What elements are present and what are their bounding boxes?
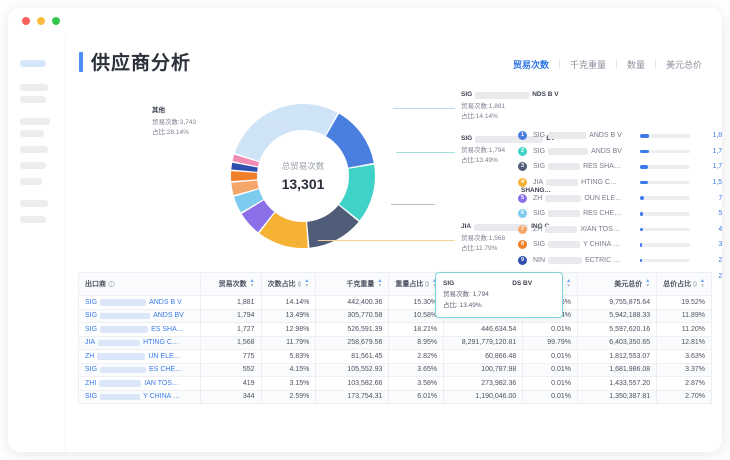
cell-贸易次数: 775: [200, 350, 261, 364]
legend-bar-fill: [640, 196, 644, 200]
table-col-label: 出口商: [85, 279, 106, 289]
redacted-name-pill: [548, 210, 580, 217]
table-col-header-8[interactable]: 美元总价▲▼: [578, 273, 657, 296]
legend-item-1[interactable]: 1SIGANDS B V1,881: [518, 128, 722, 144]
cell-总价占比: 11.20%: [657, 323, 712, 337]
legend-item-value: 775: [696, 195, 722, 202]
page-header: 供应商分析 贸易次数千克重量数量美元总价: [66, 34, 722, 90]
legend-item-4[interactable]: 4JIAHTING C…1,568: [518, 175, 722, 191]
cell-总价占比: 2.70%: [657, 390, 712, 404]
legend-bar-track: [640, 228, 690, 232]
tab-3[interactable]: 数量: [617, 58, 655, 71]
redacted-name-pill: [100, 367, 146, 374]
cell-美元总价: 5,597,620.16: [578, 323, 657, 337]
donut-center-value: 13,301: [253, 176, 353, 192]
table-col-label: 次数占比: [268, 279, 296, 289]
cell-美元总价: 5,942,188.33: [578, 309, 657, 323]
cell-次数占比: 11.79%: [261, 336, 316, 350]
table-col-header-1: 出口商i: [79, 273, 201, 296]
leader-line-seg2: [396, 152, 455, 153]
main-content: 供应商分析 贸易次数千克重量数量美元总价 总贸易次数 13,301: [66, 34, 722, 452]
sort-icon[interactable]: ▲▼: [250, 279, 255, 289]
table-col-header-2[interactable]: 贸易次数▲▼: [200, 273, 261, 296]
cell-重量占比: 3.58%: [389, 377, 444, 391]
sidebar-nav-item-2[interactable]: [20, 84, 48, 91]
close-window-button[interactable]: [22, 17, 30, 25]
cell-次数占比: 2.59%: [261, 390, 316, 404]
cell-总价占比: 19.52%: [657, 296, 712, 310]
sort-icon[interactable]: ▲▼: [645, 279, 650, 289]
table-row[interactable]: ZHUN ELE…7755.83%81,561.452.82%60,866.48…: [79, 350, 712, 364]
cell-重量占比: 2.82%: [389, 350, 444, 364]
legend-rank-badge: 9: [518, 256, 527, 265]
legend-item-3[interactable]: 3SIGRES SHA…1,727: [518, 159, 722, 175]
legend-bar-fill: [640, 212, 643, 216]
legend-rank-badge: 7: [518, 225, 527, 234]
cell-千克重量: 173,754.31: [316, 390, 389, 404]
donut-segment-11[interactable]: [235, 104, 338, 161]
cell-贸易次数: 1,568: [200, 336, 261, 350]
cell-exporter[interactable]: SIGANDS B V: [79, 296, 201, 310]
legend-bar-fill: [640, 181, 648, 185]
callout-segment-1-percent: 占比:14.14%: [461, 112, 559, 123]
donut-chart[interactable]: 总贸易次数 13,301: [214, 92, 392, 260]
cell-数量: 273,982.36: [444, 377, 523, 391]
sidebar-nav-item-10[interactable]: [20, 216, 46, 223]
table-row[interactable]: SIGANDS BV1,79413.49%305,770.5810.58%3,5…: [79, 309, 712, 323]
donut-center-text: 总贸易次数 13,301: [253, 160, 353, 192]
page-title: 供应商分析: [91, 48, 191, 75]
leader-line-seg1: [393, 108, 455, 109]
leader-line-other: [266, 125, 288, 126]
legend-rank-badge: 1: [518, 131, 527, 140]
cell-次数占比: 3.15%: [261, 377, 316, 391]
cell-数量占比: 0.01%: [523, 363, 578, 377]
chart-tooltip-value: 贸易次数: 1,794: [443, 289, 555, 300]
cell-千克重量: 526,591.39: [316, 323, 389, 337]
legend-item-value: 1,881: [696, 132, 722, 139]
legend-bar-fill: [640, 134, 649, 138]
table-head: 出口商i贸易次数▲▼次数占比i▲▼千克重量▲▼重量占比i▲▼数量▲▼数量占比i▲…: [79, 273, 712, 296]
cell-贸易次数: 344: [200, 390, 261, 404]
redacted-name-pill: [545, 226, 577, 233]
callout-other-value: 贸易次数:3,743: [152, 118, 196, 129]
cell-贸易次数: 1,881: [200, 296, 261, 310]
cell-美元总价: 1,433,557.20: [578, 377, 657, 391]
minimize-window-button[interactable]: [37, 17, 45, 25]
info-icon[interactable]: i: [298, 281, 302, 288]
tab-1[interactable]: 贸易次数: [503, 58, 559, 71]
legend-item-value: 249: [696, 257, 722, 264]
metric-tab-group[interactable]: 贸易次数千克重量数量美元总价: [503, 58, 712, 71]
legend-item-9[interactable]: 9NINECTRIC …249: [518, 253, 722, 269]
cell-贸易次数: 1,794: [200, 309, 261, 323]
cell-重量占比: 6.01%: [389, 390, 444, 404]
legend-item-value: 1,727: [696, 163, 722, 170]
table-row[interactable]: JIAHTING C…1,56811.79%258,679.568.95%8,2…: [79, 336, 712, 350]
redacted-name-pill: [545, 195, 581, 202]
redacted-name-pill: [548, 132, 586, 139]
redacted-name-pill: [100, 326, 148, 333]
cell-次数占比: 4.15%: [261, 363, 316, 377]
cell-exporter[interactable]: SIGANDS BV: [79, 309, 201, 323]
callout-segment-1: SIG NDS B V 贸易次数:1,881 占比:14.14%: [461, 90, 559, 123]
cell-总价占比: 11.89%: [657, 309, 712, 323]
sidebar-nav: [8, 34, 66, 452]
legend-rank-badge: 6: [518, 209, 527, 218]
cell-贸易次数: 552: [200, 363, 261, 377]
legend-bar-track: [640, 150, 690, 154]
cell-贸易次数: 1,727: [200, 323, 261, 337]
cell-总价占比: 12.81%: [657, 336, 712, 350]
table-col-label: 重量占比: [395, 279, 423, 289]
cell-总价占比: 2.87%: [657, 377, 712, 391]
legend-bar-fill: [640, 259, 642, 263]
sidebar-nav-item-8[interactable]: [20, 178, 42, 185]
legend-item-label: JIAHTING C…: [533, 179, 638, 186]
table-row[interactable]: SIGANDS B V1,88114.14%442,400.3615.30%4,…: [79, 296, 712, 310]
info-icon[interactable]: i: [108, 281, 115, 288]
legend-item-8[interactable]: 8SIGY CHINA …344: [518, 237, 722, 253]
cell-千克重量: 105,552.93: [316, 363, 389, 377]
window-titlebar: [8, 8, 722, 34]
cell-exporter[interactable]: JIAHTING C…: [79, 336, 201, 350]
legend-item-label: SIGANDS BV: [533, 148, 638, 155]
tab-4[interactable]: 美元总价: [656, 58, 712, 71]
redacted-name-pill: [99, 380, 141, 387]
legend-rank-badge: 3: [518, 162, 527, 171]
leader-line-seg4: [318, 240, 455, 241]
cell-exporter[interactable]: SIGES CHE…: [79, 363, 201, 377]
legend-item-value: 1,794: [696, 148, 722, 155]
cell-数量占比: 99.79%: [523, 336, 578, 350]
cell-重量占比: 8.95%: [389, 336, 444, 350]
maximize-window-button[interactable]: [52, 17, 60, 25]
table-header-row: 出口商i贸易次数▲▼次数占比i▲▼千克重量▲▼重量占比i▲▼数量▲▼数量占比i▲…: [79, 273, 712, 296]
legend-rank-badge: 2: [518, 147, 527, 156]
legend-rank-badge: 4: [518, 178, 527, 187]
table-col-label: 总价占比: [663, 279, 691, 289]
data-table: 出口商i贸易次数▲▼次数占比i▲▼千克重量▲▼重量占比i▲▼数量▲▼数量占比i▲…: [78, 272, 712, 404]
sort-icon[interactable]: ▲▼: [377, 279, 382, 289]
sidebar-nav-item-6[interactable]: [20, 146, 48, 153]
callout-other-prefix: 其他: [152, 106, 165, 117]
table-col-header-9[interactable]: 总价占比i▲▼: [657, 273, 712, 296]
cell-数量: 60,866.48: [444, 350, 523, 364]
table-row[interactable]: SIGES CHE…5524.15%105,552.933.65%100,787…: [79, 363, 712, 377]
chart-tooltip-name: SIG DS BV: [443, 278, 555, 289]
legend-item-label: ZHXIAN TOS…: [533, 226, 638, 233]
chart-tooltip: SIG DS BV 贸易次数: 1,794 占比: 13.49%: [435, 272, 563, 318]
sort-icon[interactable]: ▲▼: [304, 279, 309, 289]
cell-美元总价: 9,755,875.64: [578, 296, 657, 310]
cell-exporter[interactable]: ZHIIAN TOS…: [79, 377, 201, 391]
page-title-group: 供应商分析: [79, 48, 191, 75]
table-col-label: 美元总价: [614, 279, 642, 289]
redacted-name-pill: [475, 92, 529, 99]
cell-总价占比: 3.63%: [657, 350, 712, 364]
info-icon[interactable]: i: [425, 281, 429, 288]
tab-2[interactable]: 千克重量: [560, 58, 616, 71]
cell-贸易次数: 419: [200, 377, 261, 391]
sort-icon[interactable]: ▲▼: [700, 279, 705, 289]
redacted-name-pill: [100, 394, 140, 401]
legend-bar-fill: [640, 165, 648, 169]
legend-bar-track: [640, 181, 690, 185]
app-window: 供应商分析 贸易次数千克重量数量美元总价 总贸易次数 13,301: [8, 8, 722, 452]
legend-rank-badge: 5: [518, 194, 527, 203]
table-col-header-3[interactable]: 次数占比i▲▼: [261, 273, 316, 296]
info-icon[interactable]: i: [693, 281, 697, 288]
cell-次数占比: 13.49%: [261, 309, 316, 323]
legend-bar-track: [640, 259, 690, 263]
legend-item-value: 1,568: [696, 179, 722, 186]
leader-line-seg3: [391, 204, 435, 205]
cell-千克重量: 442,400.36: [316, 296, 389, 310]
legend-item-label: SIGRES SHA…: [533, 163, 638, 170]
sort-icon[interactable]: ▲▼: [566, 279, 571, 289]
callout-other-percent: 占比:28.14%: [152, 128, 196, 139]
cell-次数占比: 14.14%: [261, 296, 316, 310]
legend-bar-track: [640, 165, 690, 169]
cell-exporter[interactable]: SIGY CHINA …: [79, 390, 201, 404]
cell-千克重量: 103,582.66: [316, 377, 389, 391]
chart-tooltip-percent: 占比: 13.49%: [443, 300, 555, 311]
cell-重量占比: 3.65%: [389, 363, 444, 377]
donut-center-label: 总贸易次数: [253, 160, 353, 172]
cell-次数占比: 5.83%: [261, 350, 316, 364]
sidebar-nav-item-5[interactable]: [20, 130, 44, 137]
legend-bar-fill: [640, 150, 649, 154]
table-row[interactable]: ZHIIAN TOS…4193.15%103,582.663.58%273,98…: [79, 377, 712, 391]
title-accent-bar: [79, 52, 83, 72]
callout-segment-1-value: 贸易次数:1,881: [461, 102, 559, 113]
cell-美元总价: 1,812,553.07: [578, 350, 657, 364]
cell-exporter[interactable]: SIGES SHA…: [79, 323, 201, 337]
callout-other-name: 其他: [152, 106, 196, 117]
legend-item-label: SIGRES CHE…: [533, 210, 638, 217]
legend-item-label: SIGY CHINA …: [533, 241, 638, 248]
redacted-name-pill: [548, 163, 580, 170]
legend-bar-fill: [640, 243, 642, 247]
legend-item-5[interactable]: 5ZHOUN ELE…775: [518, 190, 722, 206]
legend-list[interactable]: 1SIGANDS B V1,8812SIGANDS BV1,7943SIGRES…: [518, 128, 722, 284]
cell-千克重量: 258,679.56: [316, 336, 389, 350]
legend-bar-fill: [640, 228, 643, 232]
table-col-label: 千克重量: [346, 279, 374, 289]
callout-other: 其他 贸易次数:3,743 占比:28.14%: [152, 106, 196, 139]
redacted-name-pill: [100, 313, 150, 320]
cell-次数占比: 12.98%: [261, 323, 316, 337]
redacted-name-pill: [97, 353, 145, 360]
legend-item-7[interactable]: 7ZHXIAN TOS…419: [518, 222, 722, 238]
sidebar-nav-item-1[interactable]: [20, 60, 46, 67]
sidebar-nav-item-7[interactable]: [20, 162, 46, 169]
cell-数量: 100,787.98: [444, 363, 523, 377]
table-body: SIGANDS B V1,88114.14%442,400.3615.30%4,…: [79, 296, 712, 404]
cell-美元总价: 1,350,387.81: [578, 390, 657, 404]
legend-item-value: 419: [696, 226, 722, 233]
redacted-name-pill: [546, 179, 578, 186]
cell-数量: 8,291,779,120.81: [444, 336, 523, 350]
cell-美元总价: 6,403,350.65: [578, 336, 657, 350]
legend-item-value: 552: [696, 210, 722, 217]
legend-item-label: SIGANDS B V: [533, 132, 638, 139]
redacted-name-pill: [98, 340, 140, 347]
redacted-name-pill: [100, 299, 146, 306]
chart-panel: 总贸易次数 13,301 其他 贸易次数:3,743 占比:28.14% S: [66, 86, 722, 264]
table-row[interactable]: SIGY CHINA …3442.59%173,754.316.01%1,190…: [79, 390, 712, 404]
legend-item-2[interactable]: 2SIGANDS BV1,794: [518, 144, 722, 160]
legend-item-value: 344: [696, 241, 722, 248]
legend-item-6[interactable]: 6SIGRES CHE…552: [518, 206, 722, 222]
sidebar-nav-item-3[interactable]: [20, 96, 46, 103]
legend-bar-track: [640, 196, 690, 200]
legend-item-label: NINECTRIC …: [533, 257, 638, 264]
cell-重量占比: 18.21%: [389, 323, 444, 337]
cell-数量占比: 0.01%: [523, 323, 578, 337]
redacted-name-pill: [548, 148, 588, 155]
redacted-name-pill: [548, 241, 580, 248]
cell-数量: 1,190,046.00: [444, 390, 523, 404]
sidebar-nav-item-9[interactable]: [20, 200, 48, 207]
cell-exporter[interactable]: ZHUN ELE…: [79, 350, 201, 364]
redacted-name-pill: [548, 257, 582, 264]
legend-item-label: ZHOUN ELE…: [533, 195, 638, 202]
callout-segment-1-name: SIG NDS B V: [461, 90, 559, 101]
sidebar-nav-item-4[interactable]: [20, 118, 50, 125]
table-row[interactable]: SIGES SHA…1,72712.98%526,591.3918.21%446…: [79, 323, 712, 337]
cell-美元总价: 1,681,986.08: [578, 363, 657, 377]
cell-数量占比: 0.01%: [523, 390, 578, 404]
legend-bar-track: [640, 212, 690, 216]
table-col-label: 贸易次数: [219, 279, 247, 289]
cell-总价占比: 3.37%: [657, 363, 712, 377]
legend-bar-track: [640, 134, 690, 138]
cell-数量占比: 0.01%: [523, 377, 578, 391]
cell-千克重量: 305,770.58: [316, 309, 389, 323]
cell-千克重量: 81,561.45: [316, 350, 389, 364]
cell-数量: 446,634.54: [444, 323, 523, 337]
cell-数量占比: 0.01%: [523, 350, 578, 364]
legend-bar-track: [640, 243, 690, 247]
table-col-header-4[interactable]: 千克重量▲▼: [316, 273, 389, 296]
legend-rank-badge: 8: [518, 240, 527, 249]
supplier-table: 出口商i贸易次数▲▼次数占比i▲▼千克重量▲▼重量占比i▲▼数量▲▼数量占比i▲…: [78, 272, 712, 404]
